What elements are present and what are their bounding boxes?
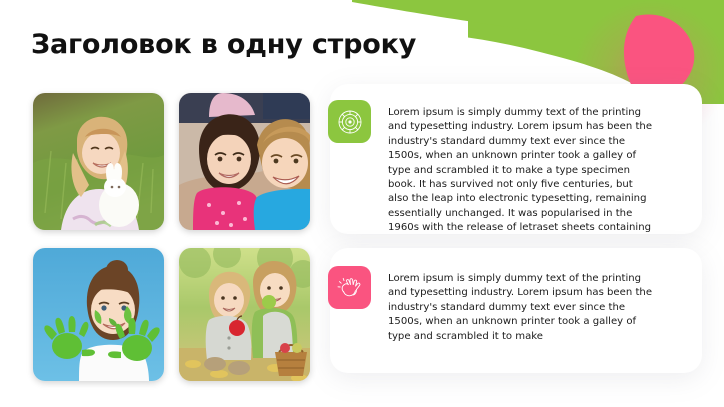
photo-children-eating-apples[interactable] [179, 248, 310, 381]
clapping-hand-icon [337, 275, 363, 301]
photo-two-children-laughing[interactable] [179, 93, 310, 230]
flower-circle-icon [337, 109, 363, 135]
slide-canvas: Заголовок в одну строку [0, 0, 724, 407]
photo-girl-green-painted-hands[interactable] [33, 248, 164, 381]
photo-girl-with-bunny[interactable] [33, 93, 164, 230]
clapping-hand-icon-tile[interactable] [328, 266, 371, 309]
row-2-body-text: Lorem ipsum is simply dummy text of the … [388, 272, 656, 344]
row-1-body-text: Lorem ipsum is simply dummy text of the … [388, 106, 656, 236]
flower-circle-icon-tile[interactable] [328, 100, 371, 143]
page-title: Заголовок в одну строку [31, 29, 416, 60]
